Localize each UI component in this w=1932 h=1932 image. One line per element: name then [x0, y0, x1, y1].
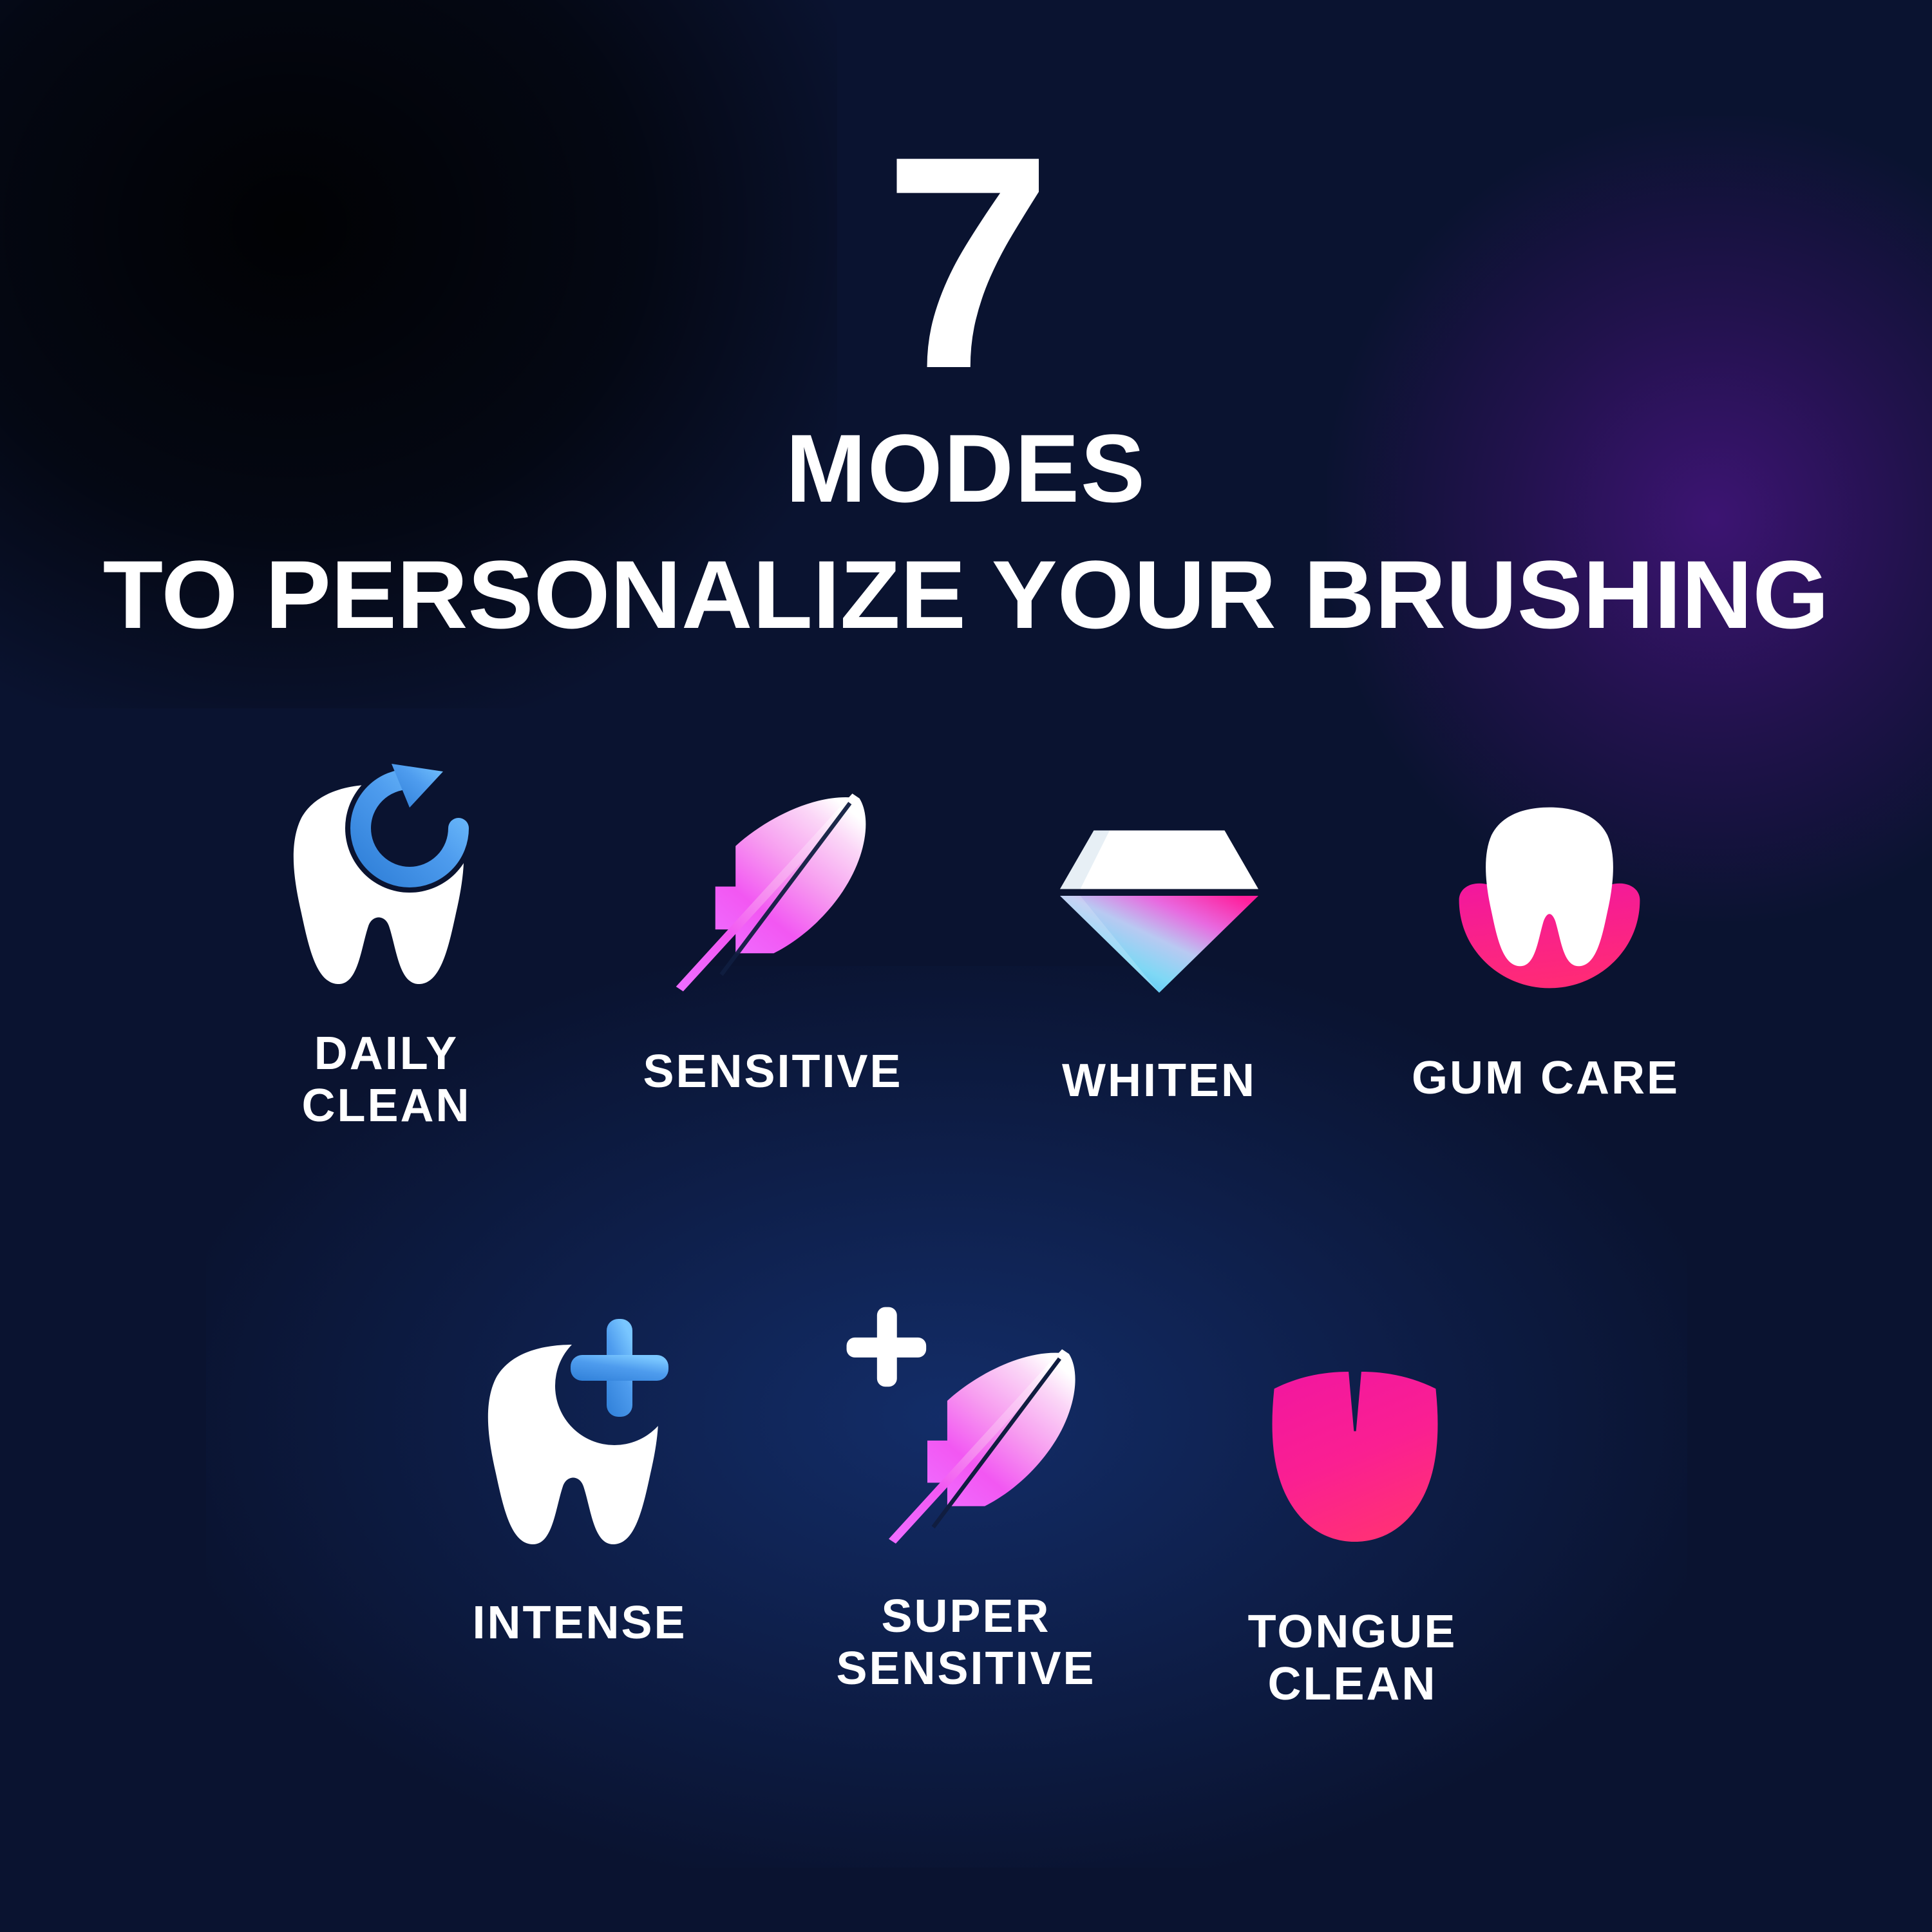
- mode-item-super-sensitive[interactable]: SUPER SENSITIVE: [773, 1314, 1159, 1694]
- mode-label-sensitive: SENSITIVE: [643, 1046, 902, 1098]
- icon-container: [250, 756, 507, 1014]
- modes-row-2: INTENSE: [0, 1314, 1932, 1710]
- mode-label-super-sensitive: SUPER SENSITIVE: [836, 1591, 1095, 1694]
- feather-icon: [650, 772, 888, 1010]
- mode-item-whiten[interactable]: WHITEN: [966, 760, 1352, 1107]
- mode-label-daily-clean: DAILY CLEAN: [302, 1028, 471, 1132]
- poster-subtitle: TO PERSONALIZE YOUR BRUSHING: [0, 546, 1932, 643]
- tongue-icon: [1249, 1350, 1461, 1563]
- mode-item-gum-care[interactable]: GUM CARE: [1352, 760, 1739, 1104]
- mode-item-intense[interactable]: INTENSE: [386, 1314, 773, 1649]
- mode-item-sensitive[interactable]: SENSITIVE: [580, 760, 966, 1098]
- diamond-icon: [1046, 788, 1272, 1013]
- modes-word: MODES: [0, 420, 1932, 516]
- mode-item-daily-clean[interactable]: DAILY CLEAN: [193, 760, 580, 1132]
- feather-plus-icon: [837, 1305, 1095, 1562]
- icon-container: [1434, 769, 1665, 1027]
- mode-label-gum-care: GUM CARE: [1412, 1052, 1680, 1104]
- icon-container: [837, 1305, 1095, 1562]
- mode-label-intense: INTENSE: [472, 1597, 687, 1649]
- mode-poster: 7 MODES TO PERSONALIZE YOUR BRUSHING: [0, 0, 1932, 1932]
- mode-count-number: 7: [0, 0, 1932, 381]
- icon-container: [650, 762, 888, 1020]
- tooth-plus-icon: [444, 1314, 702, 1571]
- mode-label-whiten: WHITEN: [1062, 1055, 1256, 1107]
- icon-container: [1249, 1328, 1461, 1586]
- icon-container: [444, 1314, 702, 1571]
- mode-item-tongue-clean[interactable]: TONGUE CLEAN: [1159, 1314, 1546, 1710]
- tooth-gum-icon: [1434, 782, 1665, 1014]
- plus-icon: [847, 1307, 927, 1387]
- icon-container: [1046, 772, 1272, 1029]
- mode-label-tongue-clean: TONGUE CLEAN: [1248, 1606, 1457, 1710]
- poster-header: 7 MODES TO PERSONALIZE YOUR BRUSHING: [0, 0, 1932, 643]
- modes-row-1: DAILY CLEAN: [0, 760, 1932, 1132]
- tooth-refresh-icon: [250, 756, 507, 1014]
